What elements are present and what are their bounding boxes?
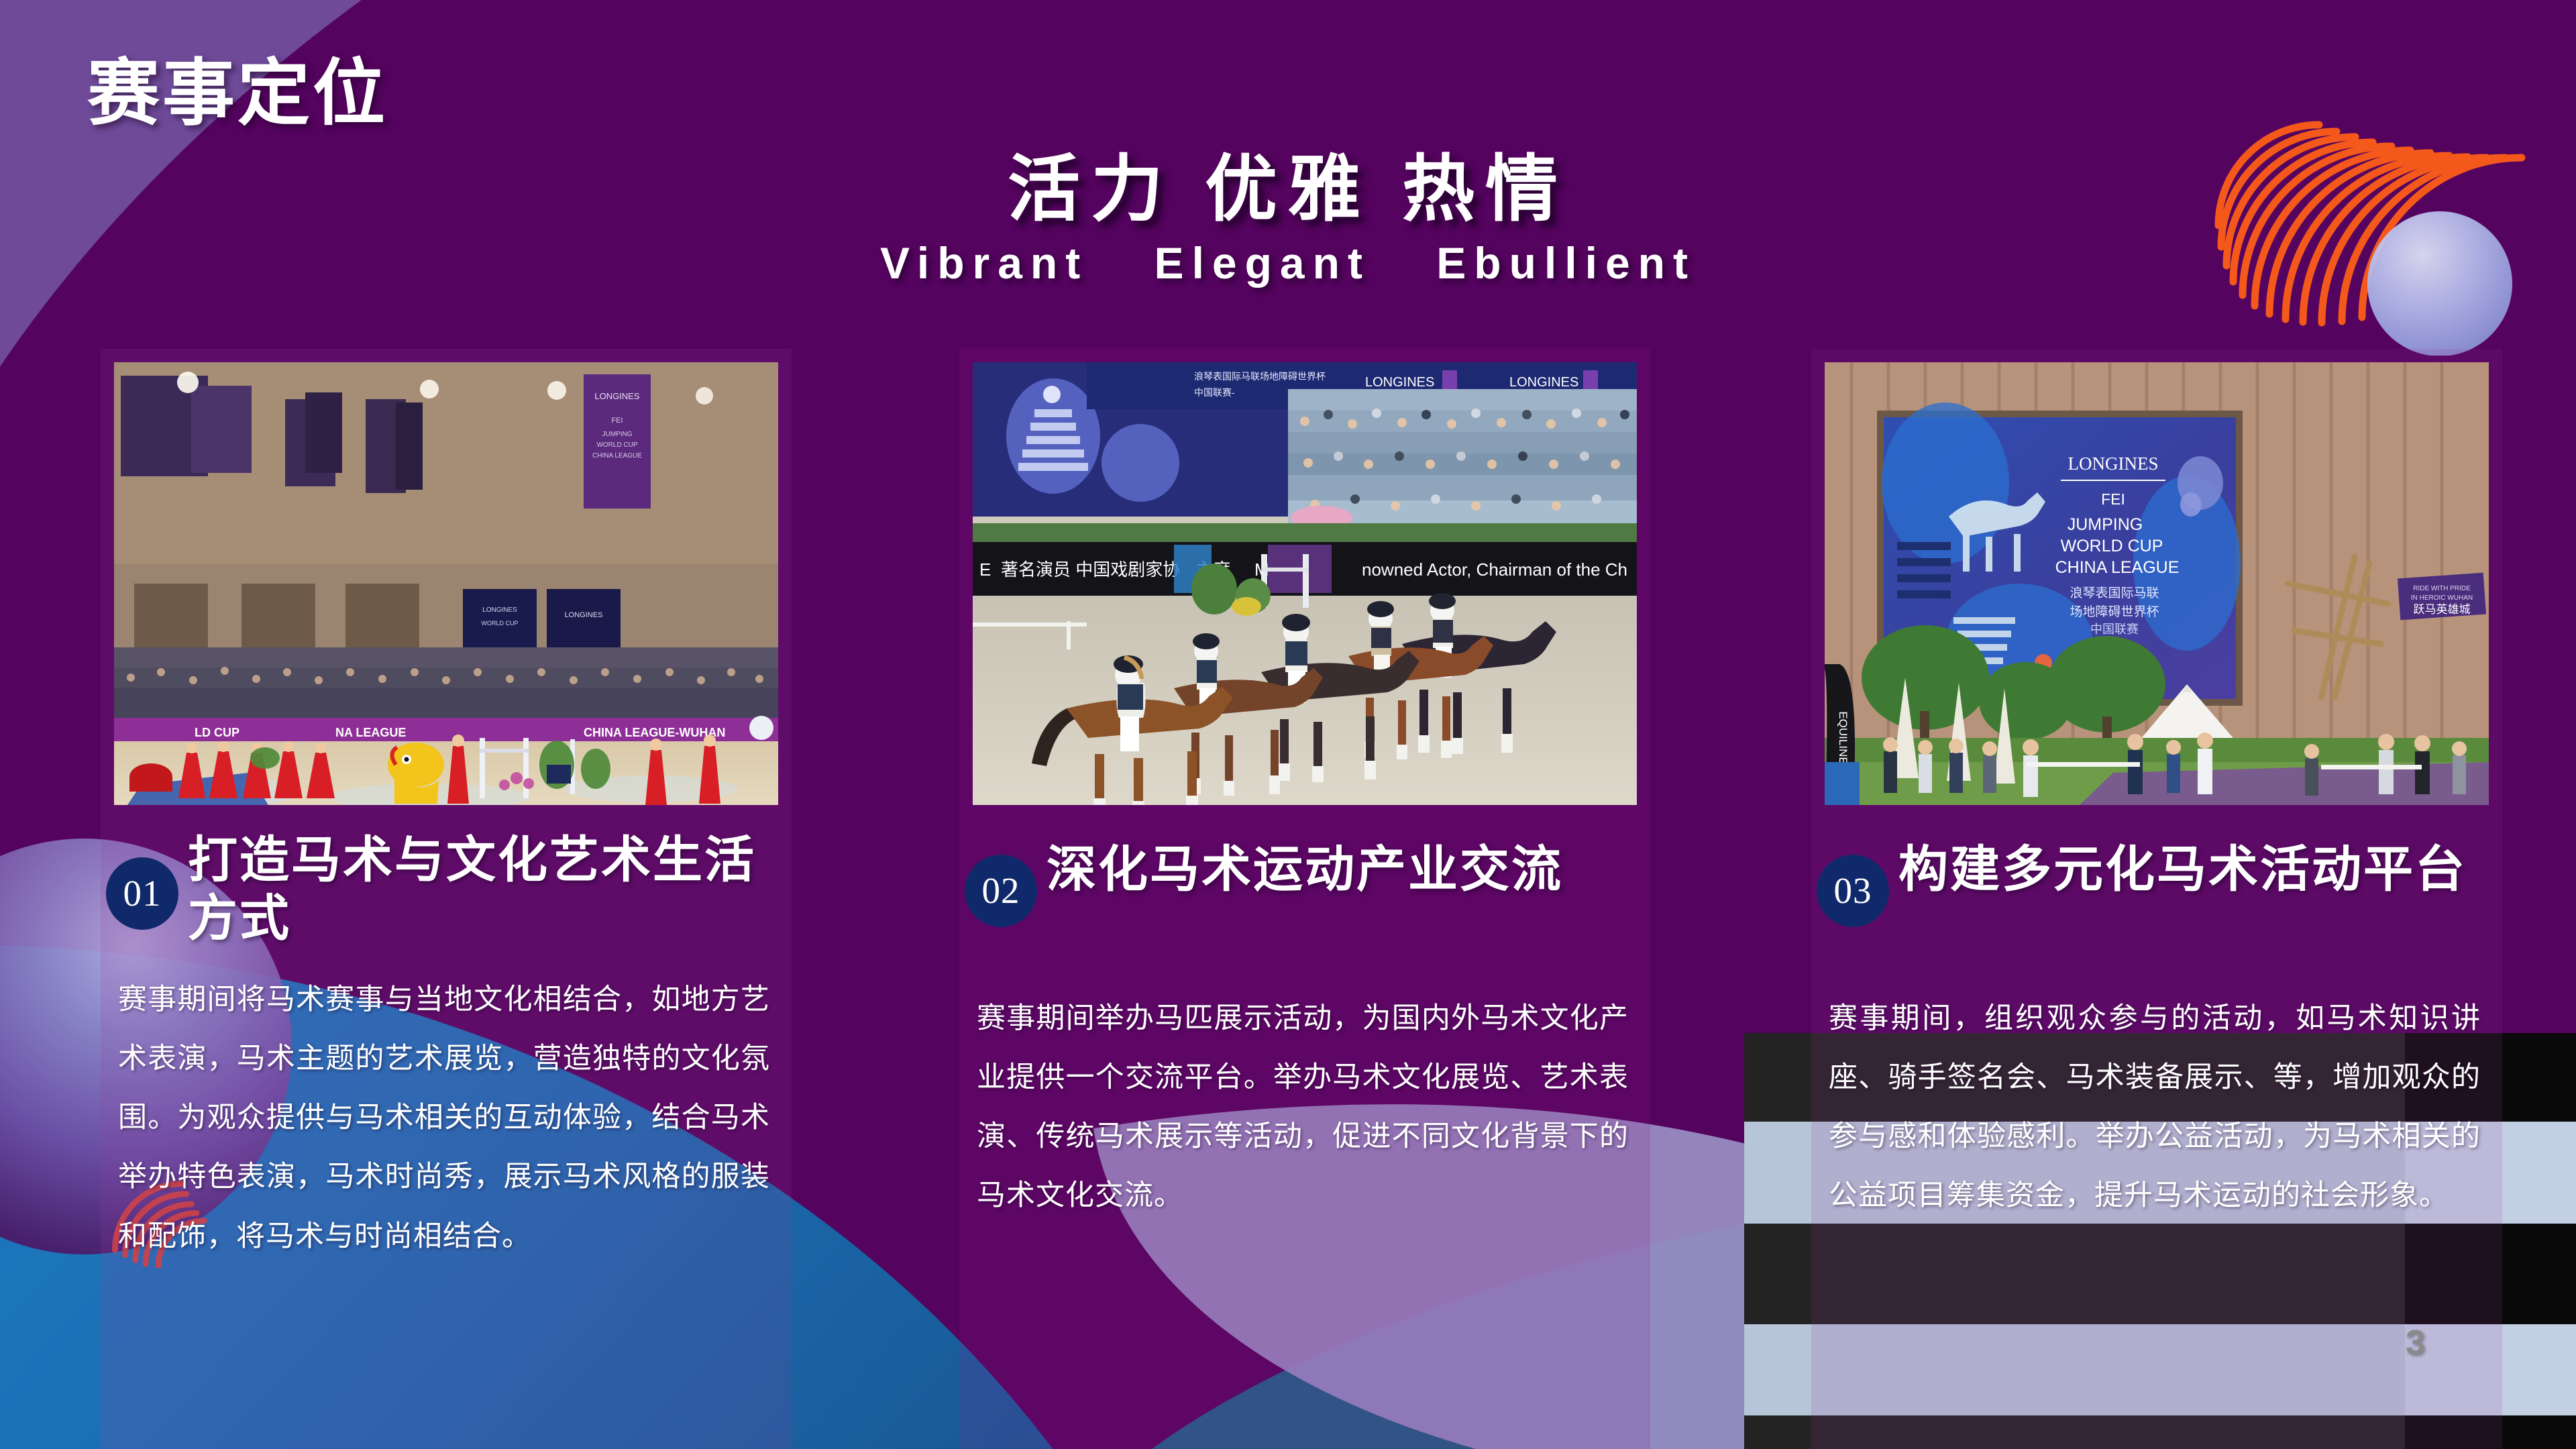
headline-english-word-3: Ebullient: [1436, 238, 1696, 288]
card-02-photo: 浪琴表国际马联场地障碍世界杯 中国联赛- LONGINES LONGINES: [973, 362, 1637, 805]
svg-text:浪琴表国际马联场地障碍世界杯: 浪琴表国际马联场地障碍世界杯: [1194, 371, 1326, 382]
svg-text:场地障碍世界杯: 场地障碍世界杯: [2070, 604, 2159, 619]
sphere-decoration: [2367, 211, 2512, 356]
card-03-number-badge: 03: [1817, 855, 1889, 927]
slide-root: 赛事定位 活力 优雅 热情 Vibrant Elegant Ebullient: [0, 0, 2576, 1449]
card-02-title: 深化马术运动产业交流: [1046, 840, 1637, 898]
card-01[interactable]: LONGINES FEI JUMPING WORLD CUP CHINA LEA…: [101, 349, 792, 1449]
svg-text:RIDE WITH PRIDE: RIDE WITH PRIDE: [2413, 585, 2471, 592]
svg-text:WORLD CUP: WORLD CUP: [596, 441, 637, 449]
headline-english-word-1: Vibrant: [880, 238, 1088, 288]
svg-text:WORLD CUP: WORLD CUP: [2061, 537, 2163, 555]
svg-text:中国联赛: 中国联赛: [2090, 623, 2139, 636]
headline-block: 活力 优雅 热情 Vibrant Elegant Ebullient: [0, 148, 2576, 288]
card-02-header: 02 深化马术运动产业交流: [973, 840, 1637, 961]
svg-text:LONGINES: LONGINES: [1509, 375, 1578, 390]
card-01-photo: LONGINES FEI JUMPING WORLD CUP CHINA LEA…: [114, 362, 778, 805]
card-01-title: 打造马术与文化艺术生活方式: [188, 830, 778, 948]
svg-text:LONGINES: LONGINES: [2068, 453, 2159, 474]
svg-text:CHINA LEAGUE: CHINA LEAGUE: [2055, 558, 2180, 577]
svg-text:浪琴表国际马联: 浪琴表国际马联: [2070, 586, 2159, 600]
svg-text:著名演员 中国戏剧家协: 著名演员 中国戏剧家协: [1001, 559, 1180, 580]
headline-english: Vibrant Elegant Ebullient: [0, 237, 2576, 288]
card-03-header: 03 构建多元化马术活动平台: [1825, 840, 2489, 961]
page-title: 赛事定位: [87, 35, 388, 140]
photo-riders-on-horses: 浪琴表国际马联场地障碍世界杯 中国联赛- LONGINES LONGINES: [973, 362, 1637, 805]
svg-text:E: E: [979, 559, 991, 580]
svg-text:中国联赛-: 中国联赛-: [1194, 387, 1235, 398]
svg-text:IN HEROIC WUHAN: IN HEROIC WUHAN: [2411, 594, 2473, 602]
photo-indoor-arena-performance: LONGINES FEI JUMPING WORLD CUP CHINA LEA…: [114, 362, 778, 805]
card-03[interactable]: LONGINES FEI JUMPING WORLD CUP CHINA LEA…: [1811, 349, 2502, 1449]
svg-text:LD CUP: LD CUP: [195, 726, 239, 739]
arc-fingerprint-icon: [2190, 67, 2539, 356]
svg-text:CHINA LEAGUE-WUHAN: CHINA LEAGUE-WUHAN: [584, 726, 725, 739]
card-02[interactable]: 浪琴表国际马联场地障碍世界杯 中国联赛- LONGINES LONGINES: [959, 349, 1650, 1449]
svg-text:CHINA LEAGUE: CHINA LEAGUE: [592, 452, 642, 460]
page-number: 3: [2406, 1323, 2425, 1363]
svg-text:nowned Actor, Chairman of the: nowned Actor, Chairman of the Ch: [1362, 559, 1627, 580]
headline-chinese: 活力 优雅 热情: [0, 148, 2576, 231]
card-03-title: 构建多元化马术活动平台: [1898, 840, 2489, 898]
svg-text:NA LEAGUE: NA LEAGUE: [335, 726, 406, 739]
svg-text:LONGINES: LONGINES: [594, 391, 640, 401]
svg-text:FEI: FEI: [2101, 490, 2125, 508]
svg-text:WORLD CUP: WORLD CUP: [481, 620, 518, 627]
card-01-body: 赛事期间将马术赛事与当地文化相结合，如地方艺术表演，马术主题的艺术展览，营造独特…: [114, 970, 778, 1266]
cards-row: LONGINES FEI JUMPING WORLD CUP CHINA LEA…: [0, 349, 2576, 1449]
card-01-header: 01 打造马术与文化艺术生活方式: [114, 830, 778, 951]
svg-text:LONGINES: LONGINES: [565, 611, 603, 619]
svg-text:JUMPING: JUMPING: [2068, 515, 2143, 534]
svg-text:LONGINES: LONGINES: [482, 606, 517, 614]
card-02-body: 赛事期间举办马匹展示活动，为国内外马术文化产业提供一个交流平台。举办马术文化展览…: [973, 989, 1637, 1226]
card-03-photo: LONGINES FEI JUMPING WORLD CUP CHINA LEA…: [1825, 362, 2489, 805]
svg-text:EQUILINE: EQUILINE: [1837, 711, 1849, 764]
card-01-number-badge: 01: [106, 857, 178, 930]
photo-outdoor-fan-village: LONGINES FEI JUMPING WORLD CUP CHINA LEA…: [1825, 362, 2489, 805]
card-03-body: 赛事期间，组织观众参与的活动，如马术知识讲座、骑手签名会、马术装备展示、等，增加…: [1825, 989, 2489, 1226]
headline-english-word-2: Elegant: [1155, 238, 1371, 288]
svg-text:跃马英雄城: 跃马英雄城: [2414, 603, 2471, 616]
card-02-number-badge: 02: [965, 855, 1037, 927]
svg-text:JUMPING: JUMPING: [602, 431, 633, 438]
svg-text:LONGINES: LONGINES: [1365, 375, 1434, 390]
svg-text:FEI: FEI: [611, 417, 623, 425]
